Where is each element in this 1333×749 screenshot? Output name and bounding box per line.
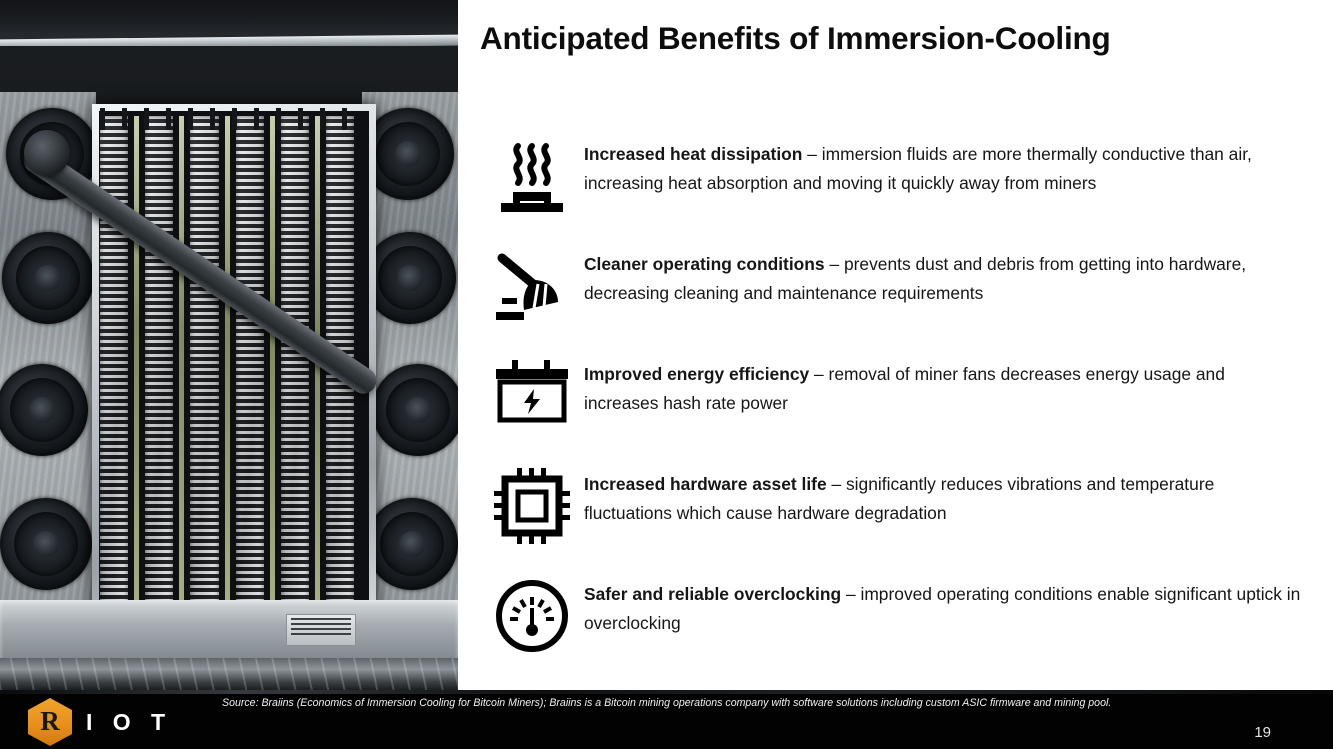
photo-fan	[364, 232, 456, 324]
riot-hex-mark-icon: R	[28, 698, 72, 746]
source-note: Source: Braiins (Economics of Immersion …	[222, 696, 1202, 710]
list-item: Cleaner operating conditions – prevents …	[480, 242, 1301, 352]
photo-pcb-edge	[179, 116, 184, 644]
photo-fluid-surface	[0, 658, 458, 690]
list-item-text: Cleaner operating conditions – prevents …	[584, 242, 1301, 308]
benefits-list: Increased heat dissipation – immersion f…	[480, 132, 1301, 682]
photo-fan	[0, 364, 88, 456]
page-title: Anticipated Benefits of Immersion-Coolin…	[480, 20, 1220, 57]
photo-fan	[0, 498, 92, 590]
list-item: Increased hardware asset life – signific…	[480, 462, 1301, 572]
list-item: Improved energy efficiency – removal of …	[480, 352, 1301, 462]
photo-background-dark	[0, 0, 458, 40]
battery-bolt-icon	[480, 352, 584, 424]
slide-canvas: Anticipated Benefits of Immersion-Coolin…	[0, 0, 1333, 749]
list-item-text: Increased hardware asset life – signific…	[584, 462, 1301, 528]
photo-fin-column	[145, 116, 173, 644]
microchip-icon	[480, 462, 584, 544]
list-item: Increased heat dissipation – immersion f…	[480, 132, 1301, 242]
photo-hose-fitting	[24, 130, 70, 176]
photo-pcb-edge	[270, 116, 275, 644]
photo-fan	[366, 498, 458, 590]
slide-footer: R I O T Source: Braiins (Economics of Im…	[0, 690, 1333, 749]
photo-heatsink-fins	[100, 116, 354, 644]
photo-fan	[2, 232, 94, 324]
photo-fin-column	[236, 116, 264, 644]
photo-pcb-edge	[225, 116, 230, 644]
footer-highlight	[0, 690, 1333, 694]
list-item-dash: –	[827, 474, 846, 494]
list-item-dash: –	[841, 584, 860, 604]
page-number: 19	[1254, 724, 1271, 741]
riot-logo: R I O T	[28, 698, 172, 746]
riot-mark-letter: R	[40, 708, 60, 735]
photo-pcb-edge	[315, 116, 320, 644]
photo-tank-interior	[0, 46, 458, 606]
photo-fan	[372, 364, 458, 456]
immersion-cooling-photo	[0, 0, 458, 690]
list-item-lead: Safer and reliable overclocking	[584, 584, 841, 604]
photo-fin-column	[281, 116, 309, 644]
list-item-dash: –	[809, 364, 828, 384]
content-panel: Anticipated Benefits of Immersion-Coolin…	[458, 0, 1333, 690]
heat-waves-icon	[480, 132, 584, 218]
photo-fin-column	[190, 116, 218, 644]
list-item-text: Improved energy efficiency – removal of …	[584, 352, 1301, 418]
list-item-lead: Increased heat dissipation	[584, 144, 802, 164]
list-item-lead: Increased hardware asset life	[584, 474, 827, 494]
list-item-text: Safer and reliable overclocking – improv…	[584, 572, 1301, 638]
gauge-icon	[480, 572, 584, 654]
list-item-dash: –	[825, 254, 844, 274]
list-item: Safer and reliable overclocking – improv…	[480, 572, 1301, 682]
list-item-dash: –	[802, 144, 821, 164]
list-item-lead: Improved energy efficiency	[584, 364, 809, 384]
photo-frame-teeth	[100, 108, 354, 130]
photo-bottom-plate	[0, 600, 458, 662]
riot-wordmark: I O T	[86, 709, 172, 736]
broom-cleaning-icon	[480, 242, 584, 324]
list-item-lead: Cleaner operating conditions	[584, 254, 825, 274]
photo-sticker-label	[286, 614, 356, 646]
photo-pcb-edge	[134, 116, 139, 644]
list-item-text: Increased heat dissipation – immersion f…	[584, 132, 1301, 198]
